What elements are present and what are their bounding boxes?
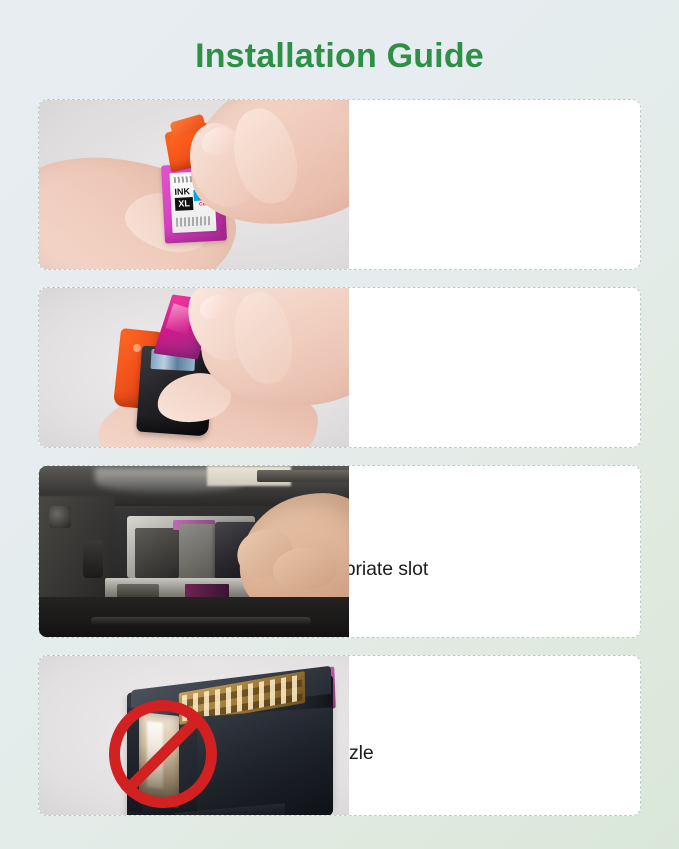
- step-card-3: STEP 3 Insert the cartridge into the app…: [38, 465, 641, 638]
- panel-knob: [49, 506, 71, 528]
- label-xl-badge: XL: [175, 197, 194, 211]
- cap-highlight: [133, 344, 141, 352]
- panel-knob-secondary: [83, 540, 103, 578]
- label-ink-text: INK: [174, 185, 195, 198]
- step-1-image: INK XL Color: [39, 100, 349, 270]
- page-title: Installation Guide: [0, 0, 679, 75]
- base-rail: [91, 617, 311, 625]
- upper-rail: [257, 470, 349, 482]
- label-footer-text: [176, 216, 212, 227]
- step-2-image: [39, 288, 349, 448]
- cartridge-slot-left: [135, 528, 179, 578]
- step-card-4-tips: TIPS DON’T touch the chip and ink nozzle: [38, 655, 641, 816]
- steps-list: INK XL Color STEP 1 Remove the protectiv…: [38, 99, 641, 833]
- step-card-1: INK XL Color STEP 1 Remove the protectiv…: [38, 99, 641, 270]
- cartridge-right-face: [197, 707, 333, 816]
- step-card-2: STEP 2 Tear off the plastic protective t…: [38, 287, 641, 448]
- tips-image: [39, 656, 349, 816]
- step-3-image: [39, 466, 349, 638]
- prohibition-slash-icon: [109, 700, 217, 808]
- ink-smear: [185, 584, 229, 598]
